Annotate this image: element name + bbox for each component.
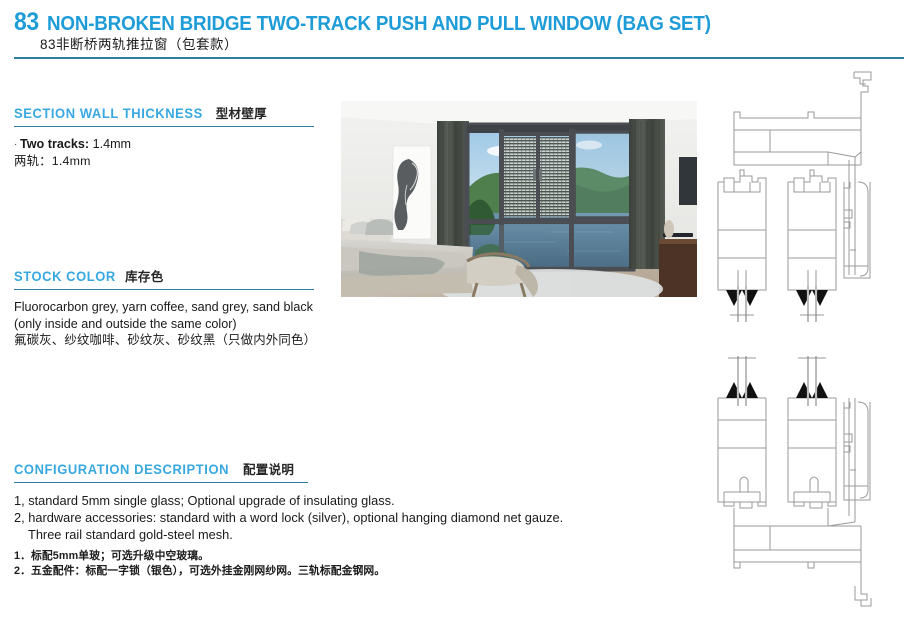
configuration-cn-block: 1．标配5mm单玻；可选升级中空玻璃。 2．五金配件：标配一字锁（银色），可选外…	[14, 549, 664, 578]
configuration-item-1-en: 1, standard 5mm single glass; Optional u…	[14, 492, 664, 509]
header-divider	[14, 57, 904, 59]
section-wall-thickness-divider	[14, 126, 314, 127]
configuration-item-2-en: 2, hardware accessories: standard with a…	[14, 509, 664, 526]
section-configuration-heading-cn: 配置说明	[243, 463, 294, 477]
section-wall-thickness-heading: SECTION WALL THICKNESS型材壁厚	[14, 106, 314, 122]
section-configuration-heading-en: CONFIGURATION DESCRIPTION	[14, 463, 229, 477]
section-stock-color-heading-cn: 库存色	[125, 270, 163, 284]
section-configuration-body: 1, standard 5mm single glass; Optional u…	[14, 492, 664, 578]
configuration-item-1-cn: 1．标配5mm单玻；可选升级中空玻璃。	[14, 549, 664, 564]
section-wall-thickness-heading-cn: 型材壁厚	[216, 107, 267, 121]
thickness-label: Two tracks:	[20, 137, 89, 151]
section-configuration-heading: CONFIGURATION DESCRIPTION配置说明	[14, 462, 308, 478]
section-configuration-divider	[14, 482, 308, 483]
section-wall-thickness-heading-en: SECTION WALL THICKNESS	[14, 107, 203, 121]
page-subtitle-cn: 83非断桥两轨推拉窗（包套款）	[40, 33, 238, 53]
configuration-item-2-cn: 2．五金配件：标配一字锁（银色），可选外挂金刚网纱网。三轨标配金钢网。	[14, 564, 664, 579]
section-stock-color-body: Fluorocarbon grey, yarn coffee, sand gre…	[14, 299, 314, 349]
section-stock-color: STOCK COLOR库存色 Fluorocarbon grey, yarn c…	[14, 269, 314, 349]
thickness-line-en: ·Two tracks: 1.4mm	[14, 136, 314, 153]
thickness-value: 1.4mm	[93, 137, 132, 151]
section-wall-thickness: SECTION WALL THICKNESS型材壁厚 ·Two tracks: …	[14, 106, 314, 170]
section-stock-color-heading: STOCK COLOR库存色	[14, 269, 314, 285]
thickness-line-cn: 两轨：1.4mm	[14, 153, 314, 170]
profile-drawing-bottom	[700, 350, 918, 612]
section-configuration-description: CONFIGURATION DESCRIPTION配置说明 1, standar…	[14, 462, 308, 578]
stock-color-line-en-1: Fluorocarbon grey, yarn coffee, sand gre…	[14, 299, 314, 316]
section-stock-color-heading-en: STOCK COLOR	[14, 270, 116, 284]
page-title-number: 83	[14, 8, 39, 37]
stock-color-line-cn: 氟碳灰、纱纹咖啡、砂纹灰、砂纹黑（只做内外同色）	[14, 332, 314, 349]
configuration-item-2-en-continued: Three rail standard gold-steel mesh.	[14, 526, 664, 543]
section-stock-color-divider	[14, 289, 314, 290]
room-photo	[341, 101, 697, 297]
section-wall-thickness-body: ·Two tracks: 1.4mm 两轨：1.4mm	[14, 136, 314, 170]
profile-drawing-top	[700, 60, 918, 350]
stock-color-line-en-2: (only inside and outside the same color)	[14, 316, 314, 333]
